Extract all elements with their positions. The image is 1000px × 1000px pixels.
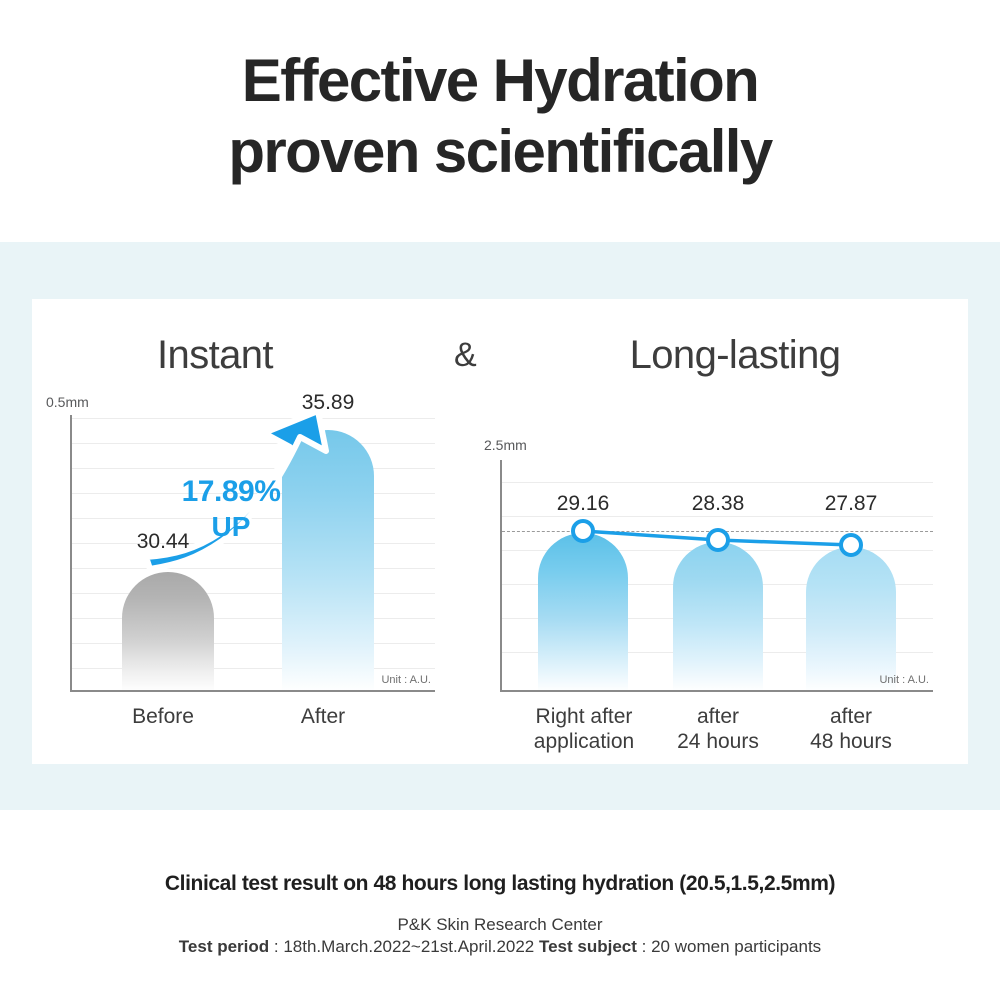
category-label-1: Right after application (508, 705, 660, 755)
left-y-axis (70, 415, 72, 692)
footer-headline: Clinical test result on 48 hours long la… (0, 872, 1000, 896)
page-title: Effective Hydration proven scientificall… (0, 46, 1000, 188)
percent-increase-badge: 17.89% UP (155, 477, 307, 541)
left-axis-unit-label: 0.5mm (46, 394, 89, 410)
right-x-axis (500, 690, 933, 692)
value-label-after: 35.89 (263, 391, 393, 415)
marker-point (573, 521, 593, 541)
footer-period-label: Test period (179, 937, 269, 956)
left-chart-title: Instant (0, 333, 430, 378)
category-label-before: Before (98, 705, 228, 730)
footer-subject-label: Test subject (539, 937, 637, 956)
infographic-page: Effective Hydration proven scientificall… (0, 0, 1000, 1000)
category-label-1-line2: application (534, 730, 634, 753)
percent-up-label: UP (155, 513, 307, 541)
value-label-2: 28.38 (653, 492, 783, 516)
footer-period-value: : 18th.March.2022~21st.April.2022 (269, 937, 539, 956)
right-y-axis (500, 460, 502, 692)
headline-line-2: proven scientifically (0, 117, 1000, 188)
left-unit-note: Unit : A.U. (381, 674, 431, 686)
category-label-3-line1: after (830, 705, 872, 728)
category-label-3: after 48 hours (775, 705, 927, 755)
right-chart-title: Long-lasting (500, 333, 970, 378)
right-unit-note: Unit : A.U. (879, 674, 929, 686)
category-label-2: after 24 hours (642, 705, 794, 755)
category-label-3-line2: 48 hours (810, 730, 892, 753)
bar-before (122, 572, 214, 692)
gridline (72, 593, 435, 594)
percent-value: 17.89% (155, 477, 307, 507)
category-label-2-line2: 24 hours (677, 730, 759, 753)
headline-line-1: Effective Hydration (242, 47, 758, 114)
value-label-3: 27.87 (786, 492, 916, 516)
footer-details: Test period : 18th.March.2022~21st.April… (0, 937, 1000, 957)
right-axis-unit-label: 2.5mm (484, 437, 527, 453)
category-label-1-line1: Right after (536, 705, 633, 728)
footer-research-center: P&K Skin Research Center (0, 915, 1000, 935)
category-label-2-line1: after (697, 705, 739, 728)
marker-point (841, 535, 861, 555)
value-label-1: 29.16 (518, 492, 648, 516)
category-label-after: After (258, 705, 388, 730)
footer-subject-value: : 20 women participants (637, 937, 821, 956)
marker-point (708, 530, 728, 550)
left-x-axis (70, 690, 435, 692)
ampersand-separator: & (430, 336, 500, 375)
